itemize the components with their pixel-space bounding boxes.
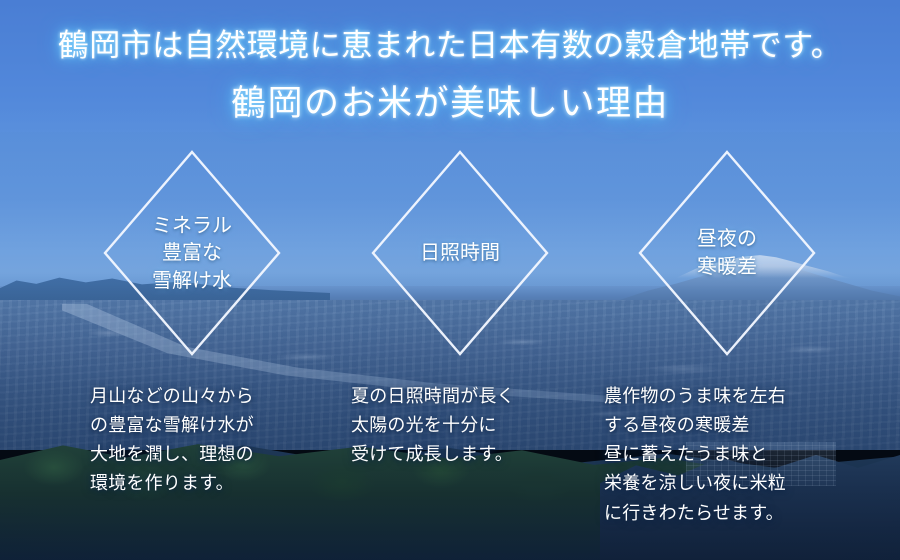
caption-line: の豊富な雪解け水が [90, 411, 254, 440]
caption-line: 昼に蓄えたうま味と [604, 440, 786, 469]
caption-line: する昼夜の寒暖差 [604, 411, 786, 440]
headline-secondary: 鶴岡のお米が美味しい理由 [0, 75, 900, 126]
diamond-outline-day-night-temperature-difference [639, 151, 815, 355]
caption-line: 農作物のうま味を左右 [604, 382, 786, 411]
caption-line: に行きわたらせます。 [604, 499, 786, 528]
caption-temperature-difference: 農作物のうま味を左右する昼夜の寒暖差昼に蓄えたうま味と栄養を涼しい夜に米粒に行き… [604, 382, 786, 528]
caption-line: 栄養を涼しい夜に米粒 [604, 469, 786, 498]
diamond-sunshine-hours[interactable]: 日照時間 [372, 151, 548, 355]
caption-sunshine: 夏の日照時間が長く太陽の光を十分に受けて成長します。 [351, 382, 515, 469]
caption-snowmelt-water: 月山などの山々からの豊富な雪解け水が大地を潤し、理想の環境を作ります。 [90, 382, 254, 499]
caption-line: 環境を作ります。 [90, 469, 254, 498]
diamond-day-night-temperature-difference[interactable]: 昼夜の寒暖差 [639, 151, 815, 355]
caption-line: 月山などの山々から [90, 382, 254, 411]
rice-quality-infographic: 鶴岡市は自然環境に恵まれた日本有数の穀倉地帯です。 鶴岡のお米が美味しい理由 ミ… [0, 0, 900, 560]
caption-line: 大地を潤し、理想の [90, 440, 254, 469]
diamond-mineral-rich-snowmelt-water[interactable]: ミネラル豊富な雪解け水 [104, 151, 280, 355]
diamond-outline-sunshine-hours [372, 151, 548, 355]
headline-primary: 鶴岡市は自然環境に恵まれた日本有数の穀倉地帯です。 [0, 20, 900, 65]
caption-line: 受けて成長します。 [351, 440, 515, 469]
diamond-outline-mineral-rich-snowmelt-water [104, 151, 280, 355]
caption-line: 夏の日照時間が長く [351, 382, 515, 411]
caption-line: 太陽の光を十分に [351, 411, 515, 440]
